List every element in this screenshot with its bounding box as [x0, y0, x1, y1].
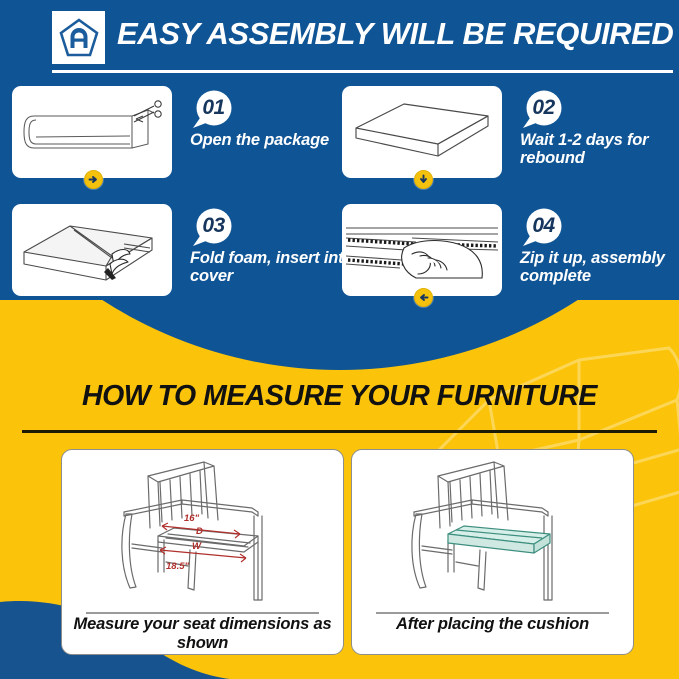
step-03-card [12, 204, 172, 296]
chair-with-cushion-illustration [352, 454, 633, 606]
step-01: 01 Open the package [12, 86, 342, 196]
page-title: EASY ASSEMBLY WILL BE REQUIRED [117, 16, 673, 52]
measure-section-title: HOW TO MEASURE YOUR FURNITURE [0, 380, 679, 413]
chair-with-dimensions-illustration: 16" D W 18.5" [62, 454, 343, 606]
step-02: 02 Wait 1-2 days for rebound [342, 86, 672, 196]
step-04-label: Zip it up, assembly complete [520, 249, 679, 286]
package-bag-scissors-illustration [12, 86, 172, 178]
arrow-right-icon [84, 170, 103, 189]
logo-box [52, 11, 105, 64]
step-04: 04 Zip it up, assembly complete [342, 204, 672, 314]
measure-panel-cushion: After placing the cushion [351, 449, 634, 655]
measure-panels: 16" D W 18.5" Measure your seat dimensio… [0, 449, 679, 664]
assembly-steps: 01 Open the package [0, 86, 679, 311]
step-02-number-badge: 02 [520, 90, 574, 130]
dimension-width-value: 18.5" [166, 561, 189, 572]
step-01-number: 01 [190, 90, 237, 125]
dimension-depth-axis: D [196, 526, 203, 537]
infographic-page: EASY ASSEMBLY WILL BE REQUIRED [0, 0, 679, 679]
panel-divider-left [86, 612, 319, 614]
header: EASY ASSEMBLY WILL BE REQUIRED [0, 0, 679, 78]
header-divider [52, 70, 673, 73]
hand-zipper-illustration [342, 204, 502, 296]
step-02-card [342, 86, 502, 178]
dimension-depth-value: 16" [184, 513, 200, 524]
step-03: 03 Fold foam, insert into cover [12, 204, 342, 314]
step-02-label: Wait 1-2 days for rebound [520, 131, 679, 168]
step-01-label: Open the package [190, 131, 360, 149]
house-pentagon-icon [58, 17, 100, 59]
dimension-width-axis: W [192, 541, 202, 552]
arrow-down-icon [414, 170, 433, 189]
step-03-number: 03 [190, 208, 237, 243]
step-04-card [342, 204, 502, 296]
foam-slab-illustration [342, 86, 502, 178]
step-01-card [12, 86, 172, 178]
measure-title-divider [22, 430, 657, 433]
measure-panel-left-caption: Measure your seat dimensions as shown [72, 615, 333, 653]
foam-into-cover-illustration [12, 204, 172, 296]
arrow-left-icon [414, 288, 433, 307]
step-04-number: 04 [520, 208, 567, 243]
panel-divider-right [376, 612, 609, 614]
step-03-number-badge: 03 [190, 208, 244, 248]
measure-panel-dimensions: 16" D W 18.5" Measure your seat dimensio… [61, 449, 344, 655]
step-02-number: 02 [520, 90, 567, 125]
step-03-label: Fold foam, insert into cover [190, 249, 360, 286]
step-01-number-badge: 01 [190, 90, 244, 130]
step-04-number-badge: 04 [520, 208, 574, 248]
measure-panel-right-caption: After placing the cushion [362, 615, 623, 634]
